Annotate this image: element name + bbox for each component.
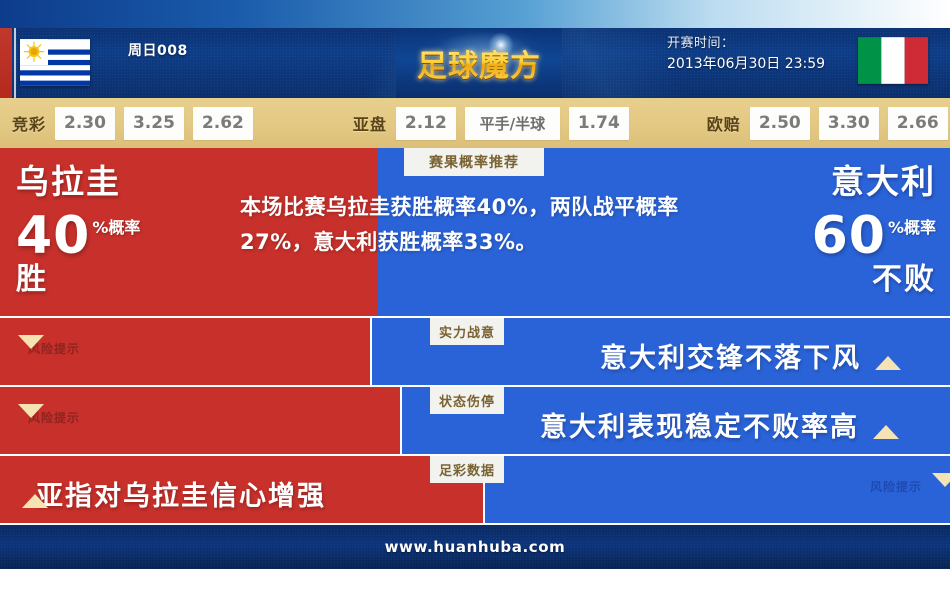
insight-row-strength: 实力战意 风险提示 意大利交锋不落下风	[0, 318, 950, 387]
away-outcome-label: 不败	[686, 262, 936, 298]
away-probability-suffix: %概率	[888, 202, 936, 262]
odds-group-oupei: 欧赔 2.50 3.30 2.66	[707, 107, 948, 140]
row3-left-insight: 亚指对乌拉圭信心增强	[22, 474, 326, 513]
row-tag-form: 状态伤停	[430, 387, 504, 414]
probability-panel: 赛果概率推荐 乌拉圭 40 %概率 胜 本场比赛乌拉圭获胜概率40%，两队战平概…	[0, 148, 950, 318]
row-tag-betting-data: 足彩数据	[430, 456, 504, 483]
probability-summary-text: 本场比赛乌拉圭获胜概率40%，两队战平概率27%，意大利获胜概率33%。	[240, 190, 690, 260]
odds-label-jingcai: 竞彩	[12, 111, 46, 135]
odds-value-oupei-draw[interactable]: 3.30	[819, 107, 879, 140]
insight-row-betting-data: 足彩数据 亚指对乌拉圭信心增强 风险提示	[0, 456, 950, 525]
kickoff-label: 开赛时间：	[667, 34, 825, 54]
row3-right-risk-label: 风险提示	[870, 478, 922, 495]
odds-value-oupei-away[interactable]: 2.66	[888, 107, 948, 140]
header: 周日008 足球魔方 开赛时间： 2013年06月30日 23:59	[0, 0, 950, 98]
match-number: 周日008	[128, 40, 188, 60]
home-outcome-label: 胜	[16, 262, 246, 298]
home-probability-row: 40 %概率	[16, 202, 246, 262]
home-team-block: 乌拉圭 40 %概率 胜	[16, 162, 246, 298]
header-red-accent-bar	[0, 28, 12, 98]
odds-value-jingcai-draw[interactable]: 3.25	[124, 107, 184, 140]
logo-text: 足球魔方	[417, 41, 541, 85]
row3-right-risk-note: 风险提示	[870, 478, 932, 495]
odds-value-oupei-home[interactable]: 2.50	[750, 107, 810, 140]
row2-right-insight: 意大利表现稳定不败率高	[540, 405, 873, 444]
odds-group-jingcai: 竞彩 2.30 3.25 2.62	[12, 107, 253, 140]
site-logo[interactable]: 足球魔方	[396, 28, 562, 98]
away-team-block: 意大利 60 %概率 不败	[686, 162, 936, 298]
header-accent-divider	[14, 28, 16, 98]
panel-tag-label: 赛果概率推荐	[429, 152, 519, 172]
odds-group-yapan: 亚盘 2.12 平手/半球 1.74	[353, 107, 629, 140]
away-probability-row: 60 %概率	[686, 202, 936, 262]
insight-row-form: 状态伤停 风险提示 意大利表现稳定不败率高	[0, 387, 950, 456]
odds-value-jingcai-away[interactable]: 2.62	[193, 107, 253, 140]
row1-right-insight: 意大利交锋不落下风	[600, 336, 875, 375]
odds-label-yapan: 亚盘	[353, 111, 387, 135]
italy-flag-icon	[858, 37, 928, 84]
odds-value-jingcai-home[interactable]: 2.30	[55, 107, 115, 140]
panel-tag-result-probability: 赛果概率推荐	[404, 148, 544, 176]
away-probability-value: 60	[812, 210, 886, 262]
home-team-name: 乌拉圭	[16, 162, 246, 202]
row-tag-form-label: 状态伤停	[439, 391, 495, 410]
match-prediction-card: 周日008 足球魔方 开赛时间： 2013年06月30日 23:59 竞彩 2.…	[0, 0, 950, 594]
row1-right-insight-text: 意大利交锋不落下风	[600, 336, 861, 375]
odds-bar: 竞彩 2.30 3.25 2.62 亚盘 2.12 平手/半球 1.74 欧赔 …	[0, 98, 950, 148]
odds-value-yapan-home[interactable]: 2.12	[396, 107, 456, 140]
home-probability-value: 40	[16, 210, 90, 262]
row2-left-risk-note: 风险提示	[18, 409, 80, 426]
home-probability-suffix: %概率	[92, 202, 140, 262]
kickoff-time: 2013年06月30日 23:59	[667, 54, 825, 74]
kickoff-info: 开赛时间： 2013年06月30日 23:59	[667, 34, 825, 74]
row1-left-risk-note: 风险提示	[18, 340, 80, 357]
uruguay-flag-icon	[20, 39, 90, 86]
odds-value-yapan-handicap[interactable]: 平手/半球	[465, 107, 560, 140]
row-tag-betting-data-label: 足彩数据	[439, 460, 495, 479]
footer-url[interactable]: www.huanhuba.com	[385, 538, 566, 556]
away-team-name: 意大利	[686, 162, 936, 202]
row3-left-insight-text: 亚指对乌拉圭信心增强	[36, 474, 326, 513]
insight-rows: 实力战意 风险提示 意大利交锋不落下风 状态伤停	[0, 318, 950, 525]
odds-value-yapan-away[interactable]: 1.74	[569, 107, 629, 140]
footer: www.huanhuba.com	[0, 525, 950, 569]
odds-label-oupei: 欧赔	[707, 111, 741, 135]
row-tag-strength: 实力战意	[430, 318, 504, 345]
row2-right-insight-text: 意大利表现稳定不败率高	[540, 405, 859, 444]
header-top-strip	[0, 0, 950, 28]
row-tag-strength-label: 实力战意	[439, 322, 495, 341]
